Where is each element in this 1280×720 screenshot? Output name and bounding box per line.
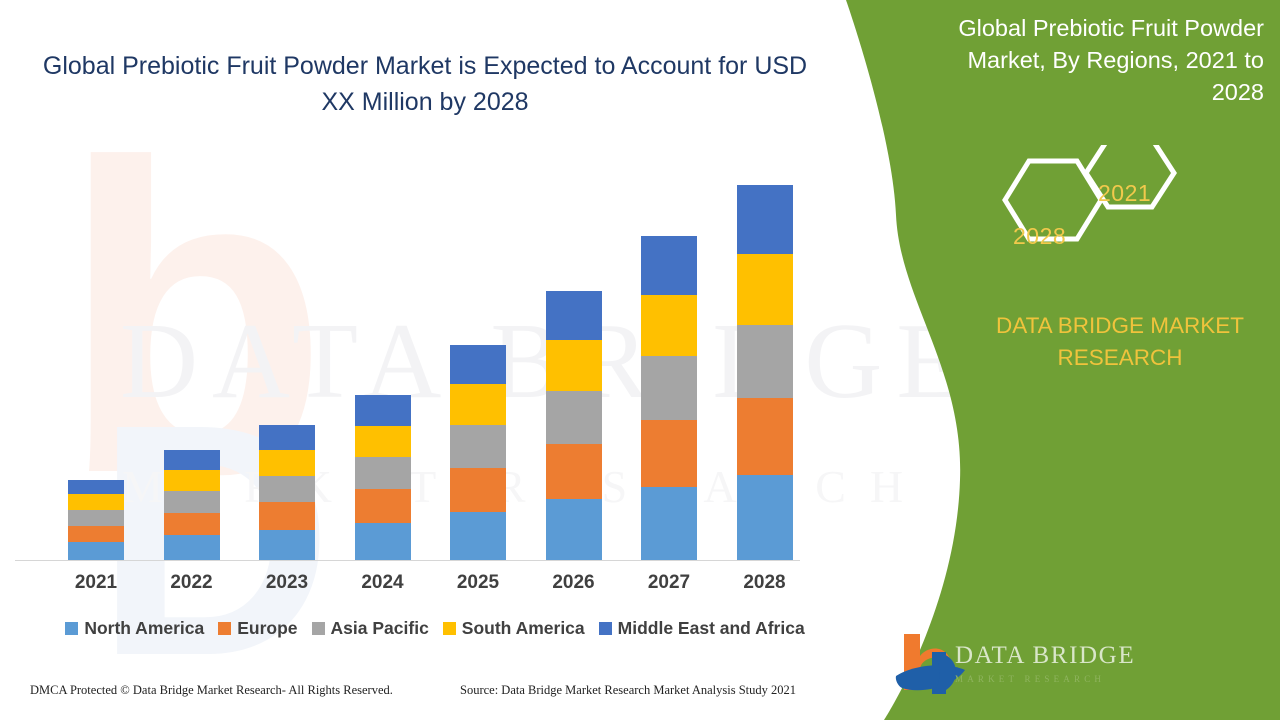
bar-segment-north-america: [737, 475, 793, 560]
bar-segment-europe: [355, 489, 411, 523]
legend-label: Asia Pacific: [331, 618, 429, 639]
bar-segment-asia-pacific: [68, 510, 124, 526]
hexagon-outline-pair: [985, 145, 1180, 275]
legend-label: South America: [462, 618, 585, 639]
bar-segment-europe: [737, 398, 793, 474]
x-axis-label-2026: 2026: [534, 572, 614, 594]
x-axis-label-2025: 2025: [438, 572, 518, 594]
bar-2021: [68, 480, 124, 560]
footer-copyright: DMCA Protected © Data Bridge Market Rese…: [30, 683, 393, 698]
bar-segment-middle-east-and-africa: [259, 425, 315, 450]
legend-swatch-icon: [443, 622, 456, 635]
bar-segment-north-america: [546, 499, 602, 559]
panel-title: Global Prebiotic Fruit Powder Market, By…: [912, 12, 1264, 108]
x-axis-label-2021: 2021: [56, 572, 136, 594]
bar-2027: [641, 236, 697, 560]
bar-segment-south-america: [355, 426, 411, 457]
hexagon-group: 2021 2028: [985, 145, 1180, 275]
bar-segment-europe: [641, 420, 697, 487]
legend-label: Europe: [237, 618, 297, 639]
x-axis-line: [15, 560, 800, 561]
bar-segment-north-america: [355, 523, 411, 560]
bar-segment-south-america: [259, 450, 315, 476]
legend-label: North America: [84, 618, 204, 639]
x-axis-label-2023: 2023: [247, 572, 327, 594]
bar-2024: [355, 395, 411, 560]
bar-segment-north-america: [641, 487, 697, 560]
bar-segment-europe: [164, 513, 220, 536]
bar-segment-middle-east-and-africa: [164, 450, 220, 470]
bar-segment-asia-pacific: [164, 491, 220, 512]
bar-segment-middle-east-and-africa: [546, 291, 602, 340]
bar-segment-south-america: [450, 384, 506, 425]
legend-item-middle-east-and-africa[interactable]: Middle East and Africa: [599, 618, 805, 639]
bar-segment-south-america: [641, 295, 697, 356]
bar-segment-asia-pacific: [259, 476, 315, 502]
bar-segment-europe: [259, 502, 315, 530]
legend-swatch-icon: [312, 622, 325, 635]
legend-item-north-america[interactable]: North America: [65, 618, 204, 639]
chart-legend: North AmericaEuropeAsia PacificSouth Ame…: [40, 615, 830, 641]
bar-2028: [737, 185, 793, 560]
bar-segment-asia-pacific: [737, 325, 793, 399]
logo-tagline: MARKET RESEARCH: [955, 674, 1135, 684]
legend-item-asia-pacific[interactable]: Asia Pacific: [312, 618, 429, 639]
bar-segment-asia-pacific: [641, 356, 697, 420]
bar-2022: [164, 450, 220, 560]
bar-segment-asia-pacific: [355, 457, 411, 489]
legend-swatch-icon: [65, 622, 78, 635]
legend-swatch-icon: [218, 622, 231, 635]
bar-segment-europe: [450, 468, 506, 512]
legend-item-europe[interactable]: Europe: [218, 618, 297, 639]
bar-segment-asia-pacific: [450, 425, 506, 467]
brand-name: DATA BRIDGE MARKET RESEARCH: [960, 310, 1280, 374]
hexagon-label-2028: 2028: [1013, 223, 1066, 250]
bar-segment-europe: [546, 444, 602, 500]
hexagon-label-2021: 2021: [1098, 180, 1151, 207]
bar-segment-middle-east-and-africa: [450, 345, 506, 384]
logo-name: DATA BRIDGE: [955, 642, 1135, 670]
infographic-canvas: b D DATA BRIDGE MARKET RESEARCH Global P…: [0, 0, 1280, 720]
bar-segment-asia-pacific: [546, 391, 602, 444]
bar-2023: [259, 425, 315, 560]
logo-wordmark: DATA BRIDGE MARKET RESEARCH: [955, 642, 1135, 684]
legend-swatch-icon: [599, 622, 612, 635]
bar-2026: [546, 291, 602, 560]
bar-segment-middle-east-and-africa: [68, 480, 124, 494]
bar-segment-north-america: [259, 530, 315, 560]
x-axis-label-2027: 2027: [629, 572, 709, 594]
footer-source: Source: Data Bridge Market Research Mark…: [460, 683, 796, 698]
bar-2025: [450, 345, 506, 560]
page-title: Global Prebiotic Fruit Powder Market is …: [40, 48, 810, 120]
bar-segment-europe: [68, 526, 124, 543]
legend-item-south-america[interactable]: South America: [443, 618, 585, 639]
bar-segment-middle-east-and-africa: [355, 395, 411, 426]
x-axis-labels: 20212022202320242025202620272028: [40, 572, 830, 602]
stacked-bar-chart: [40, 160, 830, 560]
x-axis-label-2024: 2024: [343, 572, 423, 594]
bar-segment-south-america: [546, 340, 602, 391]
x-axis-label-2022: 2022: [152, 572, 232, 594]
bar-segment-middle-east-and-africa: [641, 236, 697, 295]
bar-segment-south-america: [68, 494, 124, 510]
bar-segment-south-america: [164, 470, 220, 491]
bar-segment-north-america: [68, 542, 124, 560]
bar-segment-middle-east-and-africa: [737, 185, 793, 254]
bar-segment-south-america: [737, 254, 793, 325]
bar-segment-north-america: [450, 512, 506, 560]
bar-segment-north-america: [164, 535, 220, 560]
legend-label: Middle East and Africa: [618, 618, 805, 639]
x-axis-label-2028: 2028: [725, 572, 805, 594]
